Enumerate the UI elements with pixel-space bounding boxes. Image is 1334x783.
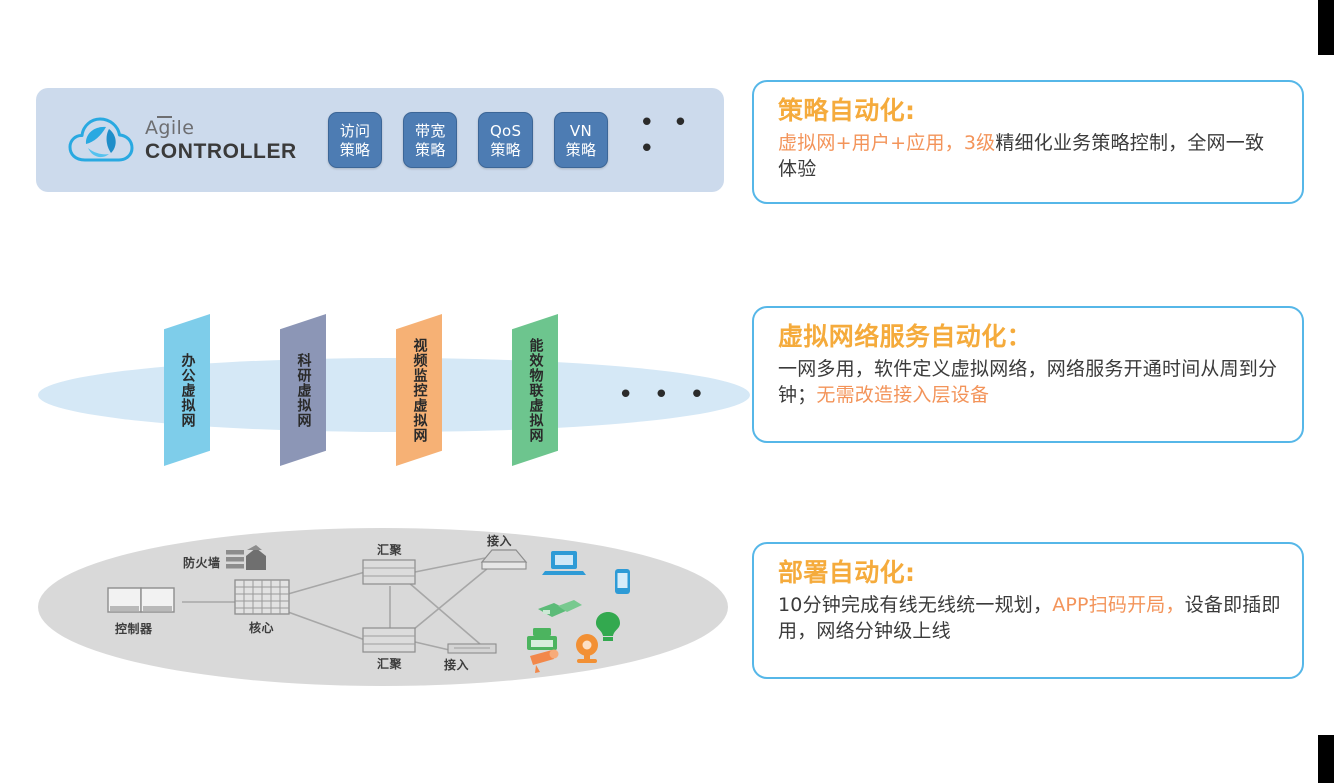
- info-card-deployment-automation: 部署自动化: 10分钟完成有线无线统一规划，APP扫码开局，设备即插即用，网络分…: [752, 542, 1304, 679]
- vn-plane-energy-iot-vn[interactable]: 能效物联虚拟网: [512, 314, 558, 466]
- vn-plane-video-surveillance-vn[interactable]: 视频监控虚拟网: [396, 314, 442, 466]
- topology-label-firewall: 防火墙: [183, 554, 221, 571]
- network-topology-diagram: 控制器 防火墙 核心 汇聚 汇聚 接入 接入: [30, 520, 734, 690]
- topology-label-access-top: 接入: [487, 532, 512, 549]
- cctv-camera-icon: [530, 650, 559, 674]
- edge-bar-top: [1318, 0, 1334, 55]
- topology-label-access-bottom: 接入: [444, 656, 469, 673]
- edge-bar-bottom: [1318, 735, 1334, 783]
- card-title: 虚拟网络服务自动化：: [778, 322, 1282, 352]
- access-point-bottom-icon: [448, 644, 496, 653]
- topology-label-aggregation-bottom: 汇聚: [377, 655, 402, 672]
- policy-chip-line1: VN: [570, 122, 592, 140]
- cloud-swirl-icon: [68, 115, 134, 165]
- printer-icon: [527, 628, 557, 650]
- card-body-highlight: APP扫码开局，: [1052, 594, 1185, 616]
- topology-label-controller: 控制器: [115, 620, 153, 637]
- aggregation-switch-top-icon: [363, 560, 415, 584]
- policy-chip-qos-policy[interactable]: QoS 策略: [478, 112, 532, 168]
- vn-plane-label: 办公虚拟网: [179, 353, 196, 428]
- access-point-top-icon: [482, 550, 526, 569]
- vn-plane-research-vn[interactable]: 科研虚拟网: [280, 314, 326, 466]
- vn-plane-label: 科研虚拟网: [295, 353, 312, 428]
- policy-chip-line1: 访问: [340, 122, 371, 140]
- card-title: 策略自动化:: [778, 96, 1282, 126]
- logo-agile-text: Agile: [145, 119, 297, 138]
- policy-chip-line2: 策略: [566, 141, 597, 159]
- agile-controller-banner: Agile CONTROLLER 访问 策略 带宽 策略 QoS 策略 VN 策…: [36, 88, 724, 192]
- topology-label-aggregation-top: 汇聚: [377, 541, 402, 558]
- vn-plane-office-vn[interactable]: 办公虚拟网: [164, 314, 210, 466]
- lamp-icon: [596, 612, 620, 641]
- vn-plane-label: 视频监控虚拟网: [411, 338, 428, 443]
- info-card-virtual-network-service-automation: 虚拟网络服务自动化： 一网多用，软件定义虚拟网络，网络服务开通时间从周到分钟；无…: [752, 306, 1304, 443]
- card-body-highlight: 虚拟网+用户+应用，3级: [778, 132, 995, 154]
- policy-chip-line2: 策略: [415, 141, 446, 159]
- core-switch-icon: [235, 580, 289, 614]
- card-body: 一网多用，软件定义虚拟网络，网络服务开通时间从周到分钟；无需改造接入层设备: [778, 356, 1282, 410]
- policy-chip-line1: 带宽: [415, 122, 446, 140]
- controller-icon: [108, 588, 174, 612]
- agile-controller-logo: Agile CONTROLLER: [68, 115, 297, 165]
- firewall-icon: [226, 545, 266, 570]
- policy-chip-access-policy[interactable]: 访问 策略: [328, 112, 382, 168]
- card-body: 虚拟网+用户+应用，3级精细化业务策略控制，全网一致体验: [778, 130, 1282, 184]
- vn-plane-label: 能效物联虚拟网: [527, 338, 544, 443]
- topology-links: [182, 558, 488, 652]
- laptop-icon: [542, 551, 586, 575]
- policy-chip-line2: 策略: [340, 141, 371, 159]
- smartphone-icon: [615, 569, 630, 594]
- card-title: 部署自动化:: [778, 558, 1282, 588]
- info-card-policy-automation: 策略自动化: 虚拟网+用户+应用，3级精细化业务策略控制，全网一致体验: [752, 80, 1304, 204]
- policy-chip-line2: 策略: [490, 141, 521, 159]
- policy-chip-row: 访问 策略 带宽 策略 QoS 策略 VN 策略 • • •: [328, 110, 724, 170]
- slide-canvas: Agile CONTROLLER 访问 策略 带宽 策略 QoS 策略 VN 策…: [0, 0, 1334, 783]
- projector-icon: [538, 600, 582, 617]
- aggregation-switch-bottom-icon: [363, 628, 415, 652]
- topology-label-core: 核心: [249, 619, 274, 636]
- policy-more-ellipsis: • • •: [639, 110, 724, 170]
- agile-controller-wordmark: Agile CONTROLLER: [145, 119, 297, 162]
- card-body: 10分钟完成有线无线统一规划，APP扫码开局，设备即插即用，网络分钟级上线: [778, 592, 1282, 646]
- card-body-highlight: 无需改造接入层设备: [816, 384, 989, 406]
- webcam-icon: [576, 634, 598, 663]
- policy-chip-line1: QoS: [490, 122, 521, 140]
- policy-chip-vn-policy[interactable]: VN 策略: [554, 112, 608, 168]
- vn-more-ellipsis: • • •: [618, 382, 711, 408]
- logo-controller-text: CONTROLLER: [145, 141, 297, 162]
- virtual-network-diagram: 办公虚拟网 科研虚拟网 视频监控虚拟网 能效物联虚拟网 • • •: [30, 300, 730, 495]
- policy-chip-bandwidth-policy[interactable]: 带宽 策略: [403, 112, 457, 168]
- card-body-pre: 10分钟完成有线无线统一规划，: [778, 594, 1052, 616]
